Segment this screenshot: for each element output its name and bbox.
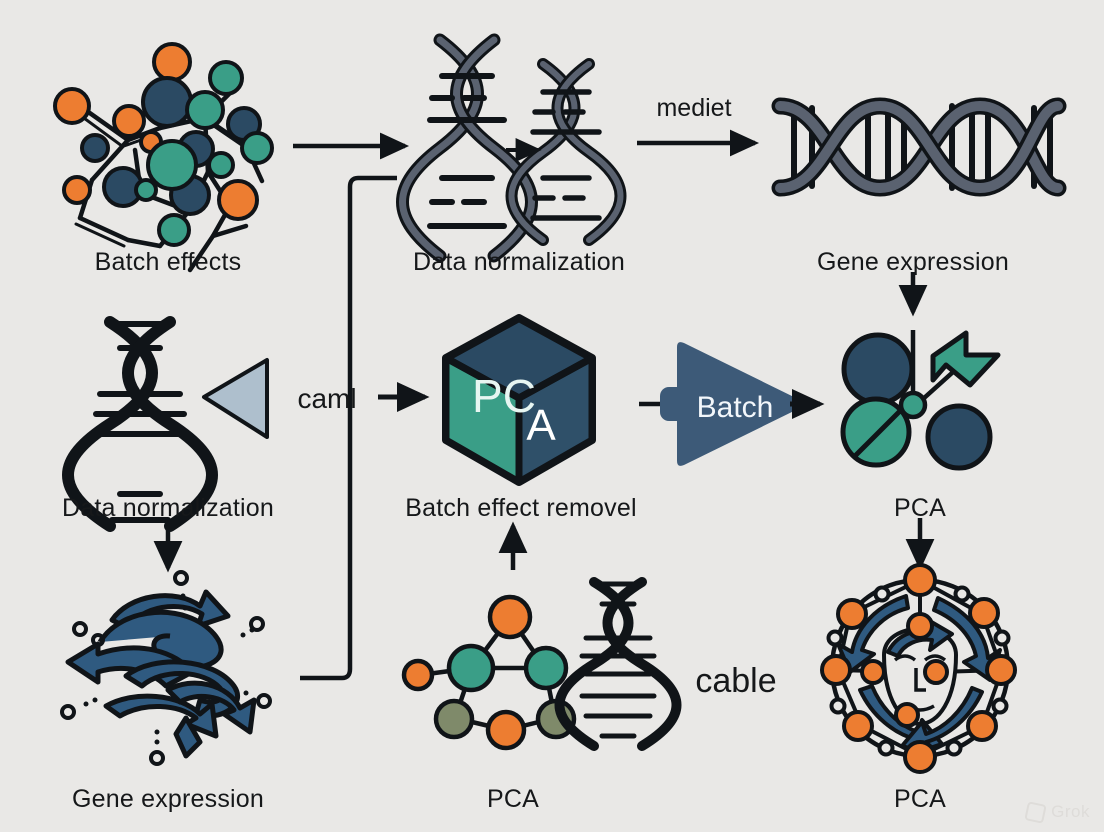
node-label-data-normalization-2: Data normalization: [62, 494, 274, 523]
node-label-pca-scatter: PCA: [894, 494, 946, 523]
pca-scatter-icon: [843, 330, 998, 468]
node-label-data-normalization-1: Data normalization: [413, 248, 625, 277]
node-label-batch-effect-removel: Batch effect removel: [405, 494, 636, 523]
diagram-vector-layer: PC A Batch: [0, 0, 1104, 832]
pca-graph-icon: [404, 597, 574, 748]
node-label-batch-effects: Batch effects: [95, 248, 242, 277]
left-triangle-icon: [204, 360, 267, 437]
node-label-gene-expression-2: Gene expression: [72, 785, 264, 814]
grok-watermark: Grok: [1026, 802, 1090, 822]
node-label-pca-graph: PCA: [487, 785, 539, 814]
batch-arrow-label: Batch: [697, 391, 774, 424]
gene-swirl-arrows-icon: [68, 592, 254, 756]
edge-label-cable: cable: [695, 662, 776, 701]
connector-bus-line: [300, 178, 397, 678]
grok-watermark-text: Grok: [1051, 802, 1090, 822]
dna-wide-helix-icon: [780, 106, 1058, 188]
edge-label-mediet: mediet: [656, 94, 731, 123]
node-label-gene-expression-1: Gene expression: [817, 248, 1009, 277]
edge-label-caml: caml: [297, 383, 356, 415]
node-label-pca-network-face: PCA: [894, 785, 946, 814]
pca-network-face-icon: [822, 565, 1015, 772]
cube-label-a: A: [526, 401, 556, 450]
dna-small-helix-icon: [560, 582, 677, 746]
grok-logo-icon: [1024, 801, 1047, 824]
diagram-canvas: PC A Batch: [0, 0, 1104, 832]
